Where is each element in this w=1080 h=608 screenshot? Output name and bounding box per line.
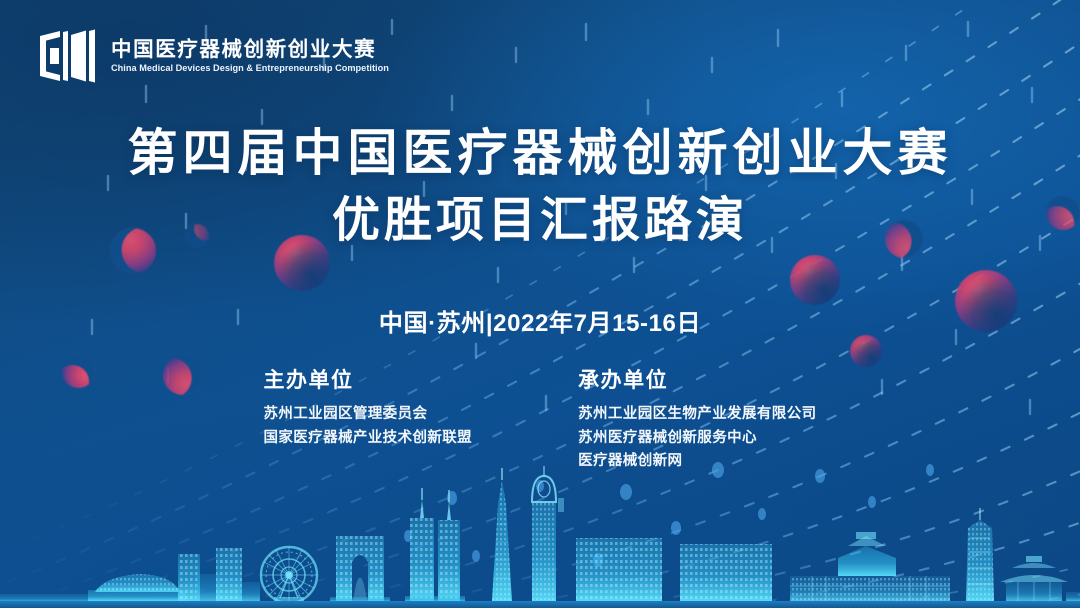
title-line-1: 第四届中国医疗器械创新创业大赛 bbox=[0, 124, 1080, 182]
organizer-unit: 国家医疗器械产业技术创新联盟 bbox=[263, 427, 472, 450]
building-civic-museum bbox=[790, 532, 950, 601]
building-grid-block-a bbox=[576, 538, 662, 601]
logo-wordmark: 中国医疗器械创新创业大赛 China Medical Devices Desig… bbox=[111, 39, 389, 72]
suzhou-city-skyline bbox=[0, 458, 1080, 608]
building-twin-spire-towers bbox=[405, 488, 465, 602]
structure-bridge bbox=[1066, 592, 1080, 601]
organizer-unit: 苏州医疗器械创新服务中心 bbox=[578, 427, 816, 450]
building-grid-block-b bbox=[680, 544, 772, 601]
organizer-unit: 苏州工业园区生物产业发展有限公司 bbox=[578, 403, 816, 426]
building-twin-block-low bbox=[178, 554, 220, 601]
skyline-ground-line bbox=[0, 601, 1080, 608]
poster-title-block: 第四届中国医疗器械创新创业大赛 优胜项目汇报路演 bbox=[0, 124, 1080, 252]
open-book-door-logo-icon bbox=[34, 28, 98, 84]
organizer-role-label: 主办单位 bbox=[263, 368, 472, 394]
building-spire-supertall bbox=[492, 468, 512, 601]
building-ferris-wheel bbox=[261, 547, 317, 603]
sphere-blob-5 bbox=[850, 335, 882, 367]
event-poster: 中国医疗器械创新创业大赛 China Medical Devices Desig… bbox=[0, 0, 1080, 608]
building-temple-pavilion bbox=[1000, 556, 1068, 601]
organizer-role-label: 承办单位 bbox=[578, 368, 816, 394]
logo-chinese-name: 中国医疗器械创新创业大赛 bbox=[111, 39, 389, 61]
competition-logo: 中国医疗器械创新创业大赛 China Medical Devices Desig… bbox=[34, 28, 389, 84]
building-pagoda-tower bbox=[966, 508, 994, 601]
title-line-2: 优胜项目汇报路演 bbox=[0, 190, 1080, 252]
building-dome-hall bbox=[88, 574, 186, 601]
sphere-blob-2 bbox=[790, 255, 840, 305]
building-round-top-tower bbox=[532, 466, 564, 601]
event-date-location: 中国·苏州|2022年7月15-16日 bbox=[0, 303, 1080, 338]
building-block-tower bbox=[216, 548, 260, 601]
organizer-unit: 苏州工业园区管理委员会 bbox=[263, 403, 472, 426]
logo-english-name: China Medical Devices Design & Entrepren… bbox=[111, 62, 389, 73]
building-gate-of-the-orient bbox=[330, 536, 390, 602]
